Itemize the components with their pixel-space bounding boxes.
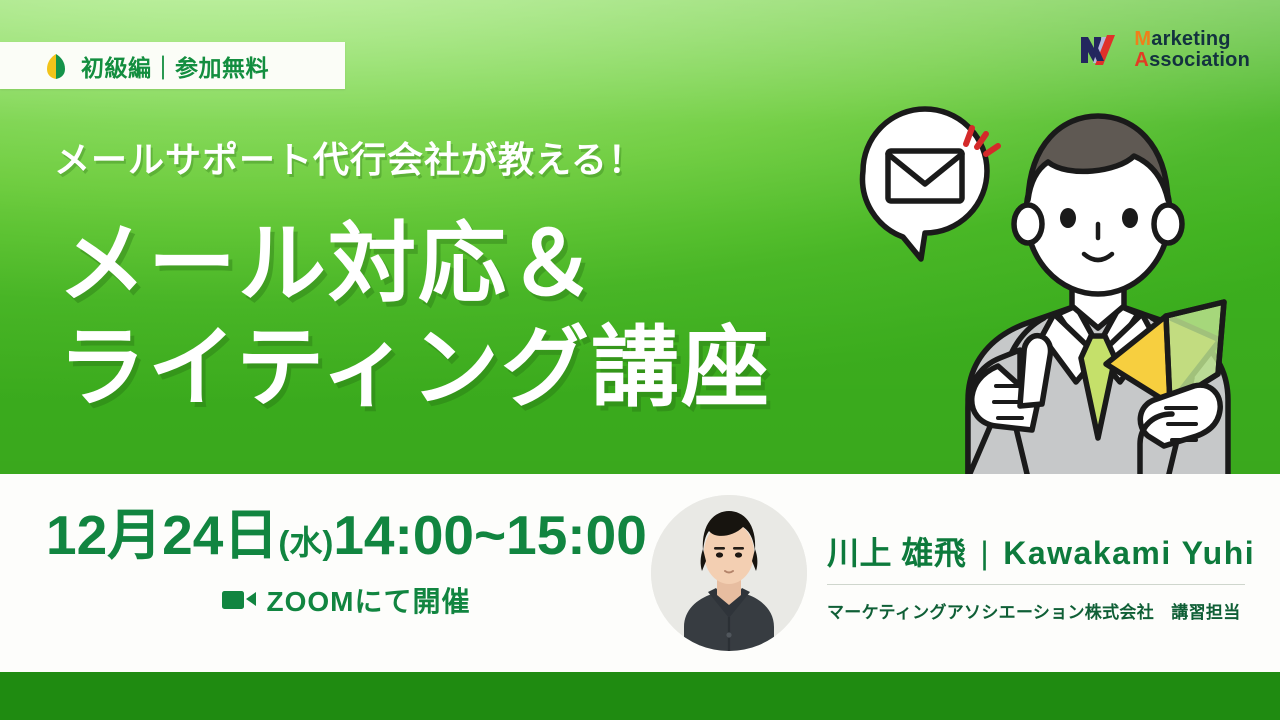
event-datetime: 12月24日(水)14:00~15:00 [46,508,646,563]
video-camera-icon [222,589,256,611]
course-level-badge: 初級編｜参加無料 [0,42,345,89]
speaker-name-jp: 川上 雄飛 [827,528,966,574]
speaker-avatar [651,495,807,651]
brand-logo-line-2: Association [1134,50,1250,71]
speaker-info: 川上 雄飛 | Kawakami Yuhi マーケティングアソシエーション株式会… [827,528,1257,623]
speaker-name-en: Kawakami Yuhi [1003,535,1255,572]
event-time-range: 14:00~15:00 [333,504,646,566]
hero-title: メール対応＆ ライティング講座 [58,212,771,420]
businessman-illustration [848,96,1268,474]
hero-illustration [848,96,1268,474]
beginner-leaf-icon [45,52,67,80]
speaker-portrait [651,495,807,651]
event-date: 12月24日 [46,504,278,566]
footer-bar [0,672,1280,720]
brand-logo: Marketing Association [1076,26,1250,74]
brand-logo-line-1: Marketing [1134,29,1250,50]
hero-subtitle: メールサポート代行会社が教える！ [54,131,645,183]
speaker-name-separator: | [980,535,989,572]
event-weekday: (水) [278,524,333,561]
brand-logo-wordmark: Marketing Association [1134,29,1250,71]
speaker-name-row: 川上 雄飛 | Kawakami Yuhi [827,528,1257,574]
webinar-banner: 初級編｜参加無料 Marketing Association メールサポート代行… [0,0,1280,720]
course-level-badge-label: 初級編｜参加無料 [81,49,269,83]
hero-section: 初級編｜参加無料 Marketing Association メールサポート代行… [0,0,1280,474]
marketing-association-logo-mark [1076,26,1124,74]
speaker-divider [827,584,1245,585]
event-platform: ZOOMにて開催 [46,580,646,620]
hero-title-line-1: メール対応＆ [58,214,598,313]
hero-title-line-2: ライティング講座 [58,316,771,420]
speaker-organization: マーケティングアソシエーション株式会社 講習担当 [827,598,1257,623]
event-platform-label: ZOOMにて開催 [267,580,471,620]
event-date-block: 12月24日(水)14:00~15:00 ZOOMにて開催 [46,508,646,620]
